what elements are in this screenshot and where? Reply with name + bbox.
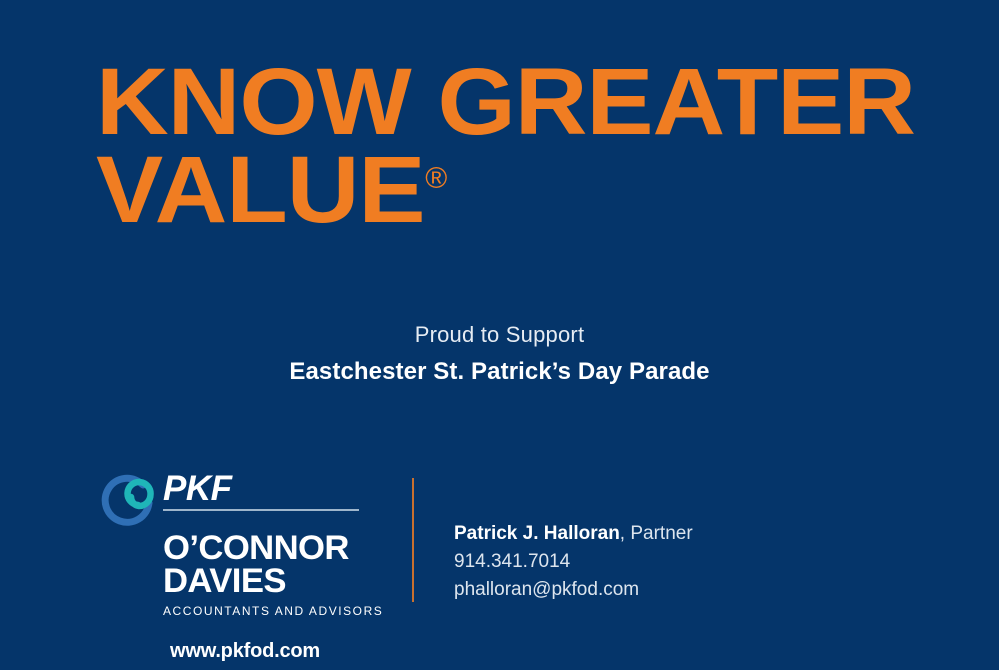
logo-tagline: ACCOUNTANTS AND ADVISORS bbox=[163, 604, 368, 618]
logo-website[interactable]: www.pkfod.com bbox=[170, 640, 368, 663]
vertical-divider bbox=[412, 478, 414, 602]
support-block: Proud to Support Eastchester St. Patrick… bbox=[0, 320, 999, 389]
support-event-title: Eastchester St. Patrick’s Day Parade bbox=[0, 355, 999, 390]
contact-email[interactable]: phalloran@pkfod.com bbox=[454, 576, 854, 604]
headline: KNOW GREATER VALUE® bbox=[96, 58, 916, 235]
headline-line-1: KNOW GREATER bbox=[96, 58, 965, 146]
logo-brand-pkf: PKF bbox=[163, 471, 232, 506]
promotional-slide: KNOW GREATER VALUE® Proud to Support Eas… bbox=[0, 0, 999, 670]
contact-person-role: , Partner bbox=[620, 523, 693, 544]
headline-line-2: VALUE® bbox=[96, 146, 965, 234]
registered-trademark-icon: ® bbox=[425, 165, 447, 193]
contact-person-name: Patrick J. Halloran bbox=[454, 523, 620, 544]
logo-lockup: PKF O’CONNOR DAVIES ACCOUNTANTS AND ADVI… bbox=[96, 470, 368, 663]
logo-firm-name-line-1: O’CONNOR bbox=[163, 532, 372, 565]
logo-top-row: PKF bbox=[96, 470, 368, 532]
contact-block: Patrick J. Halloran, Partner 914.341.701… bbox=[454, 520, 854, 604]
contact-name-line: Patrick J. Halloran, Partner bbox=[454, 520, 854, 548]
logo-firm-name: O’CONNOR DAVIES bbox=[163, 532, 368, 597]
logo-divider-rule bbox=[163, 509, 359, 511]
support-kicker: Proud to Support bbox=[0, 320, 999, 350]
headline-line-2-text: VALUE bbox=[96, 137, 425, 243]
pkf-circle-logo-icon bbox=[98, 472, 160, 530]
logo-firm-name-line-2: DAVIES bbox=[163, 565, 372, 598]
contact-phone[interactable]: 914.341.7014 bbox=[454, 548, 854, 576]
